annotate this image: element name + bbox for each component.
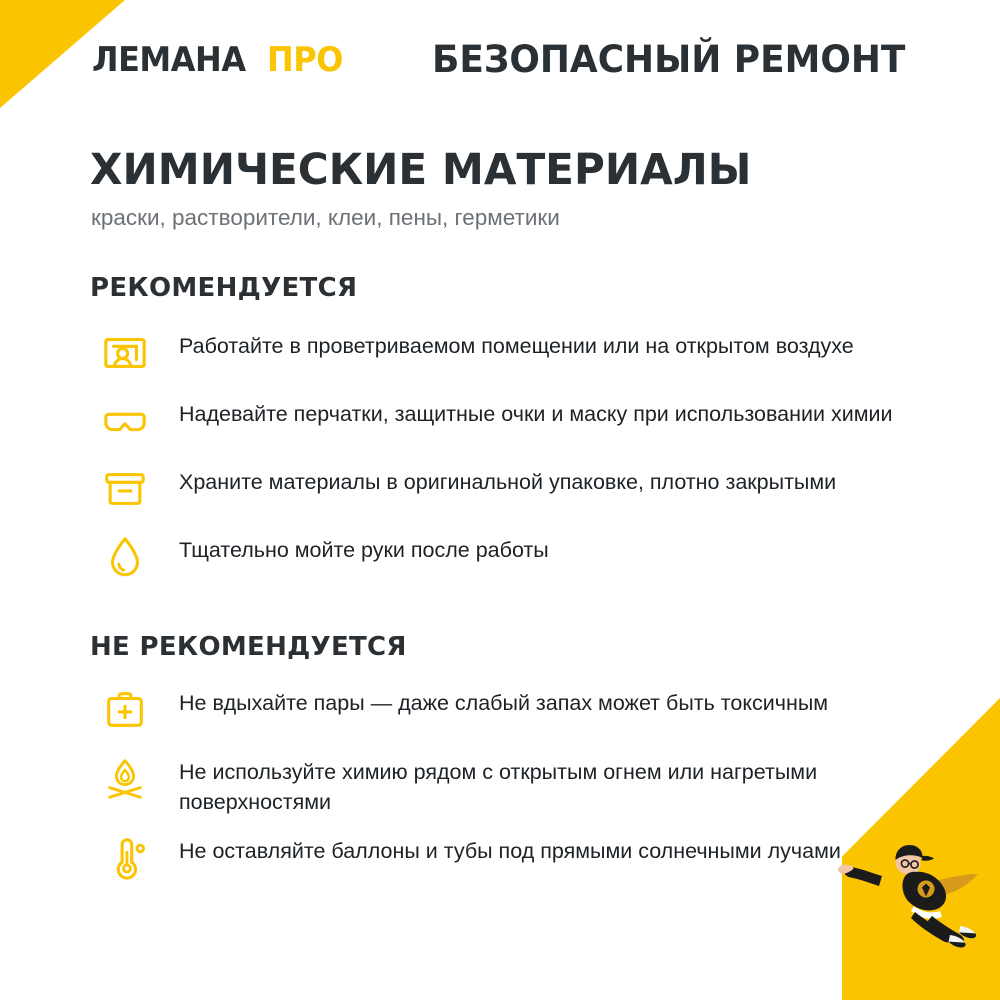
header-campaign-title: БЕЗОПАСНЫЙ РЕМОНТ bbox=[432, 38, 905, 81]
section-list-recommended: Работайте в проветриваемом помещении или… bbox=[0, 328, 1000, 600]
page-subtitle: краски, растворители, клеи, пены, гермет… bbox=[91, 205, 560, 231]
ventilated-room-icon bbox=[97, 325, 153, 381]
list-item-text: Не оставляйте баллоны и тубы под прямыми… bbox=[153, 833, 841, 866]
list-item: Работайте в проветриваемом помещении или… bbox=[0, 328, 1000, 381]
safety-goggles-icon bbox=[97, 393, 153, 449]
list-item: Надевайте перчатки, защитные очки и маск… bbox=[0, 396, 1000, 449]
list-item-text: Храните материалы в оригинальной упаковк… bbox=[153, 464, 836, 497]
list-item: Не вдыхайте пары — даже слабый запах мож… bbox=[0, 685, 1000, 738]
list-item-text: Не вдыхайте пары — даже слабый запах мож… bbox=[153, 685, 828, 718]
section-heading-not-recommended: НЕ РЕКОМЕНДУЕТСЯ bbox=[90, 632, 407, 662]
storage-box-icon bbox=[97, 461, 153, 517]
poster-canvas: ЛЕМАНА ПРО БЕЗОПАСНЫЙ РЕМОНТ ХИМИЧЕСКИЕ … bbox=[0, 0, 1000, 1000]
section-heading-recommended: РЕКОМЕНДУЕТСЯ bbox=[90, 273, 357, 303]
list-item-text: Надевайте перчатки, защитные очки и маск… bbox=[153, 396, 893, 429]
list-item-text: Тщательно мойте руки после работы bbox=[153, 532, 549, 565]
logo-text-primary: ЛЕМАНА bbox=[92, 40, 246, 80]
thermometer-sun-icon bbox=[97, 830, 153, 886]
list-item: Тщательно мойте руки после работы bbox=[0, 532, 1000, 585]
first-aid-kit-icon bbox=[97, 682, 153, 738]
list-item: Не используйте химию рядом с открытым ог… bbox=[0, 754, 1000, 817]
header: ЛЕМАНА ПРО БЕЗОПАСНЫЙ РЕМОНТ bbox=[0, 40, 1000, 88]
flying-superhero-mascot bbox=[822, 822, 992, 972]
list-item-text: Не используйте химию рядом с открытым ог… bbox=[153, 754, 899, 817]
logo-text-accent: ПРО bbox=[267, 40, 343, 80]
campfire-flame-icon bbox=[97, 751, 153, 807]
list-item: Храните материалы в оригинальной упаковк… bbox=[0, 464, 1000, 517]
brand-logo: ЛЕМАНА ПРО bbox=[92, 40, 348, 80]
page-title: ХИМИЧЕСКИЕ МАТЕРИАЛЫ bbox=[90, 145, 751, 195]
water-drop-icon bbox=[97, 529, 153, 585]
list-item-text: Работайте в проветриваемом помещении или… bbox=[153, 328, 854, 361]
